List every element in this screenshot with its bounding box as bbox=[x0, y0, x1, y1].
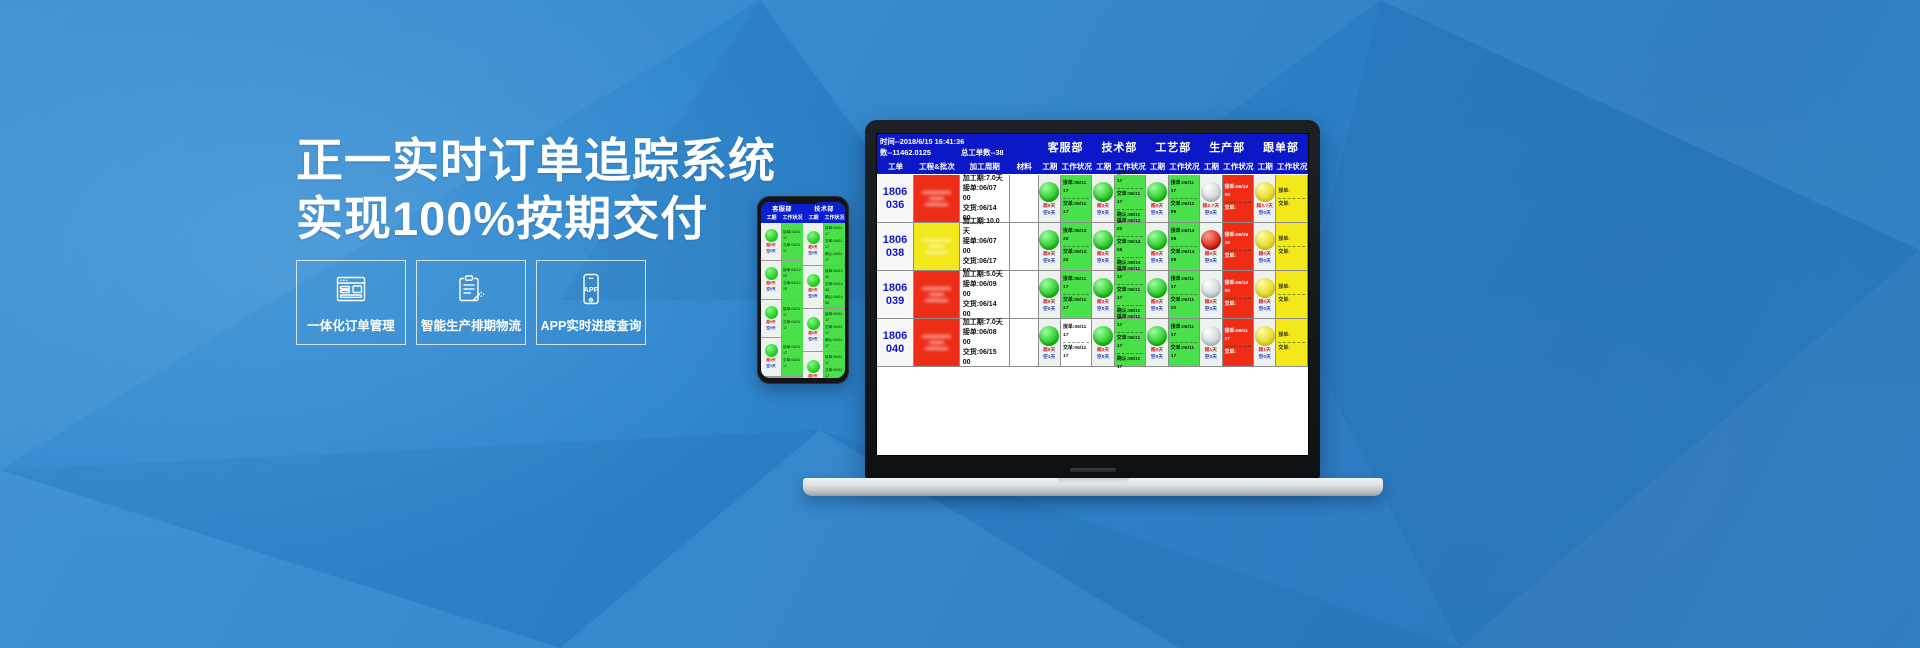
cell-work-order: 1806038 bbox=[877, 223, 914, 270]
phone-status-line: 接单:06/11 17 bbox=[783, 344, 802, 356]
phone-cell-duration: 超0天空0天 bbox=[761, 300, 782, 338]
phone-column-customer-service: 超0天空0天接单:06/11 17交单:06/11 17超0天空0天接单:06/… bbox=[761, 223, 803, 377]
status-line: 接单:06/11 17 bbox=[1171, 180, 1197, 196]
status-dot-green[interactable] bbox=[1093, 182, 1113, 202]
phone-idle-tag: 空1天 bbox=[766, 364, 775, 369]
overdue-tag: 超0天 bbox=[1097, 299, 1109, 305]
cycle-line: 接单:06/09 00 bbox=[963, 280, 1006, 300]
project-batch-redacted bbox=[914, 175, 959, 222]
status-line: 交单:06/12 09 bbox=[1171, 201, 1197, 217]
cycle-line: 加工期:10.0天 bbox=[963, 217, 1006, 237]
overdue-tag: 超0天 bbox=[1043, 299, 1055, 305]
status-dot-green[interactable] bbox=[1093, 230, 1113, 250]
cell-cycle: 加工期:10.0天接单:06/07 00交货:06/17 00 bbox=[960, 223, 1010, 270]
overdue-tag: 超0天 bbox=[1259, 299, 1271, 305]
phone-cell-duration: 超0天空4天 bbox=[803, 352, 824, 379]
status-line: 交单:06/11 17 bbox=[1117, 191, 1143, 207]
idle-tag: 空0天 bbox=[1259, 354, 1271, 360]
cell-cycle: 加工期:7.0天接单:06/08 00交货:06/15 00 bbox=[960, 319, 1010, 366]
dashboard-time: 时间--2018/6/15 16:41:36 bbox=[880, 136, 1036, 147]
mobile-app-icon: APP bbox=[574, 272, 608, 306]
cycle-line: 加工期:7.0天 bbox=[963, 174, 1006, 184]
cell-status-2: 接单:06/11 17交单:06/11 20 bbox=[1169, 271, 1200, 318]
department-header-3: 生产部 bbox=[1200, 134, 1254, 160]
status-line: 交单: bbox=[1225, 253, 1251, 261]
phone-status-line: 交单:06/11 17 bbox=[783, 242, 802, 254]
phone-col-status-1: 工作状况 bbox=[782, 214, 803, 223]
phone-cell-duration: 超0天空0天 bbox=[761, 223, 782, 261]
table-row[interactable]: 1806036加工期:7.0天接单:06/07 00交货:06/14 00超0天… bbox=[877, 175, 1308, 223]
status-divider bbox=[1171, 246, 1197, 247]
col-header-work-order: 工单 bbox=[877, 160, 914, 174]
dashboard-topbar: 时间--2018/6/15 16:41:36 数--11462.0125 总工单… bbox=[877, 134, 1308, 160]
overdue-tag: 超0天 bbox=[1151, 347, 1163, 353]
cycle-line: 接单:06/08 00 bbox=[963, 328, 1006, 348]
phone-idle-tag: 空0天 bbox=[808, 251, 817, 256]
cell-cycle: 加工期:5.0天接单:06/09 00交货:06/14 00 bbox=[960, 271, 1010, 318]
phone-status-dot-green[interactable] bbox=[807, 274, 820, 287]
status-divider bbox=[1063, 342, 1089, 343]
overdue-tag: 超0天 bbox=[1097, 203, 1109, 209]
status-line: 交单: bbox=[1278, 345, 1304, 353]
status-dot-green[interactable] bbox=[1039, 230, 1059, 250]
status-line: 交单:06/14 08 bbox=[1117, 239, 1143, 255]
idle-tag: 空0天 bbox=[1259, 258, 1271, 264]
cell-work-order: 1806036 bbox=[877, 175, 914, 222]
idle-tag: 空0天 bbox=[1097, 306, 1109, 312]
cell-duration-0: 超0天空0天 bbox=[1039, 223, 1061, 270]
col-header-status-4: 工作状况 bbox=[1276, 160, 1307, 174]
phone-row[interactable]: 超0天空0天接单:06/11 17交单:06/11 17 bbox=[761, 223, 803, 262]
overdue-tag: 超0天 bbox=[1097, 251, 1109, 257]
status-line: 交单: bbox=[1225, 205, 1251, 213]
cycle-line: 加工期:5.0天 bbox=[963, 270, 1006, 280]
status-line: 交单:06/14 08 bbox=[1171, 249, 1197, 265]
status-dot-green[interactable] bbox=[1039, 326, 1059, 346]
overdue-tag: 超0天 bbox=[1097, 347, 1109, 353]
cell-duration-3: 超2.7天空0天 bbox=[1200, 175, 1222, 222]
phone-overdue-tag: 超0天 bbox=[766, 243, 775, 248]
col-header-duration-2: 工期 bbox=[1146, 160, 1168, 174]
feature-card-order-management[interactable]: 一体化订单管理 bbox=[296, 260, 406, 345]
phone-overdue-tag: 超0天 bbox=[808, 331, 817, 336]
overdue-tag: 超0天 bbox=[1259, 251, 1271, 257]
overdue-tag: 超0天 bbox=[1205, 251, 1217, 257]
status-line: 接单:06/12 09 bbox=[1225, 280, 1251, 296]
idle-tag: 空0天 bbox=[1151, 354, 1163, 360]
idle-tag: 空0天 bbox=[1259, 306, 1271, 312]
col-header-material: 材料 bbox=[1010, 160, 1039, 174]
status-line: 确认:06/11 17 bbox=[1117, 356, 1143, 372]
work-order-top: 1806 bbox=[883, 282, 907, 295]
overdue-tag: 超1天 bbox=[1205, 347, 1217, 353]
laptop-lid: 时间--2018/6/15 16:41:36 数--11462.0125 总工单… bbox=[865, 120, 1320, 480]
phone-status-dot-green[interactable] bbox=[765, 267, 778, 280]
dashboard-rows: 1806036加工期:7.0天接单:06/07 00交货:06/14 00超0天… bbox=[877, 175, 1308, 367]
cell-duration-3: 超0天空0天 bbox=[1200, 223, 1222, 270]
department-header-2: 工艺部 bbox=[1146, 134, 1200, 160]
cell-status-4: 接单:交单: bbox=[1276, 319, 1307, 366]
cell-duration-4: 超3.7天空0天 bbox=[1254, 175, 1276, 222]
table-row[interactable]: 1806038加工期:10.0天接单:06/07 00交货:06/17 00超0… bbox=[877, 223, 1308, 271]
phone-idle-tag: 空0天 bbox=[766, 326, 775, 331]
cell-duration-1: 超0天空0天 bbox=[1092, 271, 1114, 318]
status-line: 接单:06/11 17 bbox=[1171, 276, 1197, 292]
laptop-base bbox=[803, 478, 1383, 496]
phone-status-line: 交单:06/11 17 bbox=[825, 238, 844, 250]
cycle-line: 交货:06/15 00 bbox=[963, 348, 1006, 368]
status-line: 接单:06/12 09 bbox=[1225, 184, 1251, 200]
cell-duration-2: 超0天空0天 bbox=[1146, 319, 1168, 366]
phone-screen[interactable]: 客服部 技术部 工期 工作状况 工期 工作状况 超0天空0天接单:06/11 1… bbox=[761, 202, 845, 378]
cell-duration-0: 超0天空0天 bbox=[1039, 175, 1061, 222]
phone-row[interactable]: 超0天空4天接单:06/11 17交单:06/11 17确认:06/11 17 bbox=[803, 352, 845, 379]
idle-tag: 空0天 bbox=[1205, 258, 1217, 264]
status-dot-grey[interactable] bbox=[1201, 182, 1221, 202]
idle-tag: 空0天 bbox=[1259, 210, 1271, 216]
cell-duration-1: 超0天空0天 bbox=[1092, 319, 1114, 366]
phone-status-line: 接单:06/12 20 bbox=[825, 268, 844, 280]
phone-status-dot-green[interactable] bbox=[807, 360, 820, 373]
cycle-line: 接单:06/07 00 bbox=[963, 237, 1006, 257]
idle-tag: 空0天 bbox=[1151, 258, 1163, 264]
status-line: 交单:06/11 17 bbox=[1117, 335, 1143, 351]
status-dot-grey[interactable] bbox=[1201, 326, 1221, 346]
status-divider bbox=[1117, 188, 1143, 189]
phone-col-duration-2: 工期 bbox=[803, 214, 824, 223]
phone-cell-duration: 超0天空0天 bbox=[803, 223, 824, 265]
phone-cell-status: 接单:06/12 20交单:06/12 20 bbox=[782, 261, 803, 299]
feature-card-production-scheduling[interactable]: 智能生产排期物流 bbox=[416, 260, 526, 345]
status-line: 接单:06/11 17 bbox=[1063, 180, 1089, 196]
overdue-tag: 超0天 bbox=[1151, 299, 1163, 305]
cell-project-batch bbox=[914, 319, 960, 366]
laptop-mockup: 时间--2018/6/15 16:41:36 数--11462.0125 总工单… bbox=[865, 120, 1335, 470]
status-dot-green[interactable] bbox=[1147, 326, 1167, 346]
status-line: 接单: bbox=[1278, 236, 1304, 244]
phone-idle-tag: 空0天 bbox=[766, 287, 775, 292]
table-row[interactable]: 1806040加工期:7.0天接单:06/08 00交货:06/15 00超0天… bbox=[877, 319, 1308, 367]
phone-overdue-tag: 超0天 bbox=[808, 374, 817, 378]
headline-line-1: 正一实时订单追踪系统 bbox=[296, 132, 716, 190]
cell-duration-4: 超0天空0天 bbox=[1254, 271, 1276, 318]
cell-material bbox=[1010, 271, 1039, 318]
app-icon-text: APP bbox=[583, 285, 598, 294]
cell-duration-2: 超0天空0天 bbox=[1146, 175, 1168, 222]
col-header-status-2: 工作状况 bbox=[1169, 160, 1200, 174]
cell-project-batch bbox=[914, 271, 960, 318]
cell-project-batch bbox=[914, 223, 960, 270]
status-line: 接单: bbox=[1278, 332, 1304, 340]
clipboard-schedule-icon bbox=[454, 272, 488, 306]
status-divider bbox=[1063, 198, 1089, 199]
laptop-screen[interactable]: 时间--2018/6/15 16:41:36 数--11462.0125 总工单… bbox=[876, 133, 1309, 456]
cell-status-4: 接单:交单: bbox=[1276, 175, 1307, 222]
col-header-status-0: 工作状况 bbox=[1061, 160, 1092, 174]
status-line: 交单:06/11 20 bbox=[1171, 297, 1197, 313]
phone-status-line: 接单:06/11 17 bbox=[783, 229, 802, 241]
status-line: 接单: bbox=[1278, 284, 1304, 292]
work-order-bottom: 038 bbox=[886, 247, 904, 260]
col-header-project-batch: 工程&批次 bbox=[914, 160, 960, 174]
status-line: 交单:06/11 17 bbox=[1063, 297, 1089, 313]
work-order-bottom: 039 bbox=[886, 295, 904, 308]
phone-status-dot-green[interactable] bbox=[765, 229, 778, 242]
status-dot-green[interactable] bbox=[1147, 182, 1167, 202]
status-divider bbox=[1117, 305, 1143, 306]
status-dot-green[interactable] bbox=[1093, 326, 1113, 346]
status-dot-yellow[interactable] bbox=[1255, 230, 1275, 250]
idle-tag: 空0天 bbox=[1151, 210, 1163, 216]
col-header-duration-4: 工期 bbox=[1254, 160, 1276, 174]
phone-idle-tag: 空0天 bbox=[808, 337, 817, 342]
feature-label: APP实时进度查询 bbox=[541, 315, 642, 334]
cell-duration-1: 超0天空0天 bbox=[1092, 223, 1114, 270]
phone-status-line: 接单:06/12 20 bbox=[783, 267, 802, 279]
idle-tag: 空0天 bbox=[1097, 354, 1109, 360]
status-divider bbox=[1063, 246, 1089, 247]
dashboard-column-header: 工单工程&批次加工周期材料工期工作状况工期工作状况工期工作状况工期工作状况工期工… bbox=[877, 160, 1308, 175]
status-line: 交单:06/12 20 bbox=[1063, 249, 1089, 265]
idle-tag: 空0天 bbox=[1205, 306, 1217, 312]
cell-status-3: 接单:06/11 17交单: bbox=[1223, 319, 1254, 366]
idle-tag: 空0天 bbox=[1205, 354, 1217, 360]
status-dot-green[interactable] bbox=[1147, 230, 1167, 250]
feature-label: 智能生产排期物流 bbox=[421, 315, 521, 334]
phone-status-line: 交单:06/11 17 bbox=[783, 357, 802, 369]
status-line: 接单:06/12 20 bbox=[1063, 228, 1089, 244]
overdue-tag: 超1天 bbox=[1259, 347, 1271, 353]
cell-duration-4: 超1天空0天 bbox=[1254, 319, 1276, 366]
status-divider bbox=[1225, 346, 1251, 347]
phone-status-dot-green[interactable] bbox=[765, 344, 778, 357]
status-divider bbox=[1225, 202, 1251, 203]
department-header-0: 客服部 bbox=[1039, 134, 1093, 160]
order-tracking-dashboard: 时间--2018/6/15 16:41:36 数--11462.0125 总工单… bbox=[877, 134, 1308, 455]
dashboard-department-header: 客服部技术部工艺部生产部跟单部 bbox=[1039, 134, 1308, 160]
work-order-bottom: 036 bbox=[886, 199, 904, 212]
phone-status-line: 交单:06/14 08 bbox=[825, 281, 844, 293]
feature-label: 一体化订单管理 bbox=[307, 315, 395, 334]
phone-status-line: 交单:06/11 17 bbox=[825, 367, 844, 379]
phone-status-line: 确认:06/14 08 bbox=[825, 294, 844, 306]
status-divider bbox=[1117, 284, 1143, 285]
status-line: 接单:06/11 17 bbox=[1063, 276, 1089, 292]
status-dot-yellow[interactable] bbox=[1255, 278, 1275, 298]
status-dot-green[interactable] bbox=[1147, 278, 1167, 298]
status-line: 接单:06/11 17 bbox=[1063, 324, 1089, 340]
cell-status-1: 接单:06/11 17交单:06/11 17确认:06/11 17 bbox=[1115, 175, 1146, 222]
department-header-4: 跟单部 bbox=[1254, 134, 1308, 160]
phone-col-duration-1: 工期 bbox=[761, 214, 782, 223]
overdue-tag: 超0天 bbox=[1151, 203, 1163, 209]
cycle-line: 接单:06/07 00 bbox=[963, 184, 1006, 204]
status-dot-yellow[interactable] bbox=[1255, 182, 1275, 202]
status-divider bbox=[1278, 342, 1304, 343]
cell-status-1: 接单:06/11 17交单:06/11 17确认:06/11 17 bbox=[1115, 319, 1146, 366]
phone-status-dot-green[interactable] bbox=[807, 317, 820, 330]
idle-tag: 空0天 bbox=[1097, 258, 1109, 264]
col-header-duration-0: 工期 bbox=[1039, 160, 1061, 174]
cell-duration-2: 超0天空0天 bbox=[1146, 271, 1168, 318]
cell-work-order: 1806039 bbox=[877, 271, 914, 318]
status-divider bbox=[1225, 298, 1251, 299]
phone-cell-status: 接单:06/11 17交单:06/11 17 bbox=[782, 300, 803, 338]
phone-row[interactable]: 超0天空1天接单:06/11 17交单:06/11 17 bbox=[761, 338, 803, 377]
feature-list: 一体化订单管理 智能生产排期物流 APP APP实时进度查询 bbox=[296, 260, 646, 345]
cell-cycle: 加工期:7.0天接单:06/07 00交货:06/14 00 bbox=[960, 175, 1010, 222]
phone-overdue-tag: 超0天 bbox=[766, 320, 775, 325]
status-line: 接单:06/15 16 bbox=[1225, 232, 1251, 248]
phone-status-dot-green[interactable] bbox=[765, 306, 778, 319]
cell-status-2: 接单:06/11 17交单:06/12 09 bbox=[1169, 175, 1200, 222]
table-row[interactable]: 1806039加工期:5.0天接单:06/09 00交货:06/14 00超0天… bbox=[877, 271, 1308, 319]
status-dot-grey[interactable] bbox=[1201, 278, 1221, 298]
overdue-tag: 超0天 bbox=[1205, 299, 1217, 305]
status-divider bbox=[1063, 294, 1089, 295]
status-dot-red[interactable] bbox=[1201, 230, 1221, 250]
phone-status-line: 确认:06/11 17 bbox=[825, 337, 844, 349]
status-divider bbox=[1278, 294, 1304, 295]
dashboard-count: 数--11462.0125 bbox=[880, 147, 961, 158]
phone-row[interactable]: 超0天空0天接单:06/11 17交单:06/11 17确认:06/11 17 bbox=[803, 223, 845, 266]
cell-duration-3: 超1天空0天 bbox=[1200, 319, 1222, 366]
status-line: 交单:06/11 17 bbox=[1171, 345, 1197, 361]
status-divider bbox=[1117, 236, 1143, 237]
smartphone-mockup: 客服部 技术部 工期 工作状况 工期 工作状况 超0天空0天接单:06/11 1… bbox=[757, 196, 849, 384]
status-line: 交单: bbox=[1225, 349, 1251, 357]
cycle-line: 交货:06/14 00 bbox=[963, 300, 1006, 320]
status-dot-green[interactable] bbox=[1093, 278, 1113, 298]
cell-status-4: 接单:交单: bbox=[1276, 271, 1307, 318]
status-line: 交单: bbox=[1278, 297, 1304, 305]
phone-status-line: 接单:06/11 17 bbox=[783, 306, 802, 318]
phone-cell-duration: 超0天空0天 bbox=[803, 309, 824, 351]
dashboard-total-orders: 总工单数--38 bbox=[961, 147, 1004, 158]
phone-row[interactable]: 超0天空0天接单:06/12 20交单:06/14 08确认:06/14 08 bbox=[803, 266, 845, 309]
cell-work-order: 1806040 bbox=[877, 319, 914, 366]
phone-row[interactable]: 超0天空0天接单:06/12 20交单:06/12 20 bbox=[761, 261, 803, 300]
cell-status-1: 接单:06/11 17交单:06/11 17确认:06/11 17 bbox=[1115, 271, 1146, 318]
phone-status-line: 接单:06/11 17 bbox=[825, 354, 844, 366]
work-order-bottom: 040 bbox=[886, 343, 904, 356]
phone-status-line: 确认:06/11 17 bbox=[825, 251, 844, 263]
status-divider bbox=[1278, 198, 1304, 199]
project-batch-redacted bbox=[914, 271, 959, 318]
work-order-top: 1806 bbox=[883, 186, 907, 199]
cell-status-2: 接单:06/11 17交单:06/11 17 bbox=[1169, 319, 1200, 366]
cell-status-0: 接单:06/11 17交单:06/11 17 bbox=[1061, 175, 1092, 222]
phone-overdue-tag: 超0天 bbox=[766, 281, 775, 286]
col-header-status-3: 工作状况 bbox=[1223, 160, 1254, 174]
overdue-tag: 超0天 bbox=[1043, 203, 1055, 209]
overdue-tag: 超0天 bbox=[1043, 347, 1055, 353]
cell-material bbox=[1010, 175, 1039, 222]
status-line: 接单:06/11 17 bbox=[1117, 266, 1143, 282]
status-line: 接单:06/12 20 bbox=[1117, 218, 1143, 234]
status-divider bbox=[1278, 246, 1304, 247]
phone-status-line: 接单:06/11 17 bbox=[825, 311, 844, 323]
phone-cell-status: 接单:06/12 20交单:06/14 08确认:06/14 08 bbox=[824, 266, 845, 308]
idle-tag: 空0天 bbox=[1043, 210, 1055, 216]
status-divider bbox=[1225, 250, 1251, 251]
work-order-top: 1806 bbox=[883, 234, 907, 247]
idle-tag: 空0天 bbox=[1043, 258, 1055, 264]
phone-cell-status: 接单:06/11 17交单:06/11 17确认:06/11 17 bbox=[824, 309, 845, 351]
phone-cell-status: 接单:06/11 17交单:06/11 17确认:06/11 17 bbox=[824, 223, 845, 265]
status-line: 交单:06/11 17 bbox=[1063, 201, 1089, 217]
cell-duration-2: 超0天空0天 bbox=[1146, 223, 1168, 270]
phone-row[interactable]: 超0天空0天接单:06/11 17交单:06/11 17确认:06/11 17 bbox=[803, 309, 845, 352]
cell-status-0: 接单:06/12 20交单:06/12 20 bbox=[1061, 223, 1092, 270]
status-dot-green[interactable] bbox=[1039, 278, 1059, 298]
cell-duration-4: 超0天空0天 bbox=[1254, 223, 1276, 270]
phone-col-status-2: 工作状况 bbox=[824, 214, 845, 223]
phone-cell-duration: 超0天空0天 bbox=[803, 266, 824, 308]
col-header-duration-1: 工期 bbox=[1092, 160, 1114, 174]
idle-tag: 空0天 bbox=[1043, 306, 1055, 312]
phone-status-dot-green[interactable] bbox=[807, 231, 820, 244]
status-line: 交单: bbox=[1225, 301, 1251, 309]
status-divider bbox=[1117, 257, 1143, 258]
overdue-tag: 超2.7天 bbox=[1203, 203, 1220, 209]
work-order-top: 1806 bbox=[883, 330, 907, 343]
idle-tag: 空1天 bbox=[1043, 354, 1055, 360]
status-dot-yellow[interactable] bbox=[1255, 326, 1275, 346]
phone-idle-tag: 空0天 bbox=[766, 249, 775, 254]
cell-duration-1: 超0天空0天 bbox=[1092, 175, 1114, 222]
cell-status-3: 接单:06/12 09交单: bbox=[1223, 175, 1254, 222]
feature-card-app-progress-query[interactable]: APP APP实时进度查询 bbox=[536, 260, 646, 345]
phone-status-line: 接单:06/11 17 bbox=[825, 225, 844, 237]
phone-row[interactable]: 超0天空0天接单:06/11 17交单:06/11 17 bbox=[761, 300, 803, 339]
phone-cell-status: 接单:06/11 17交单:06/11 17 bbox=[782, 338, 803, 376]
overdue-tag: 超3.7天 bbox=[1256, 203, 1273, 209]
phone-status-line: 交单:06/11 17 bbox=[825, 324, 844, 336]
phone-cell-status: 接单:06/11 17交单:06/11 17确认:06/11 17 bbox=[824, 352, 845, 379]
hero-copy: 正一实时订单追踪系统 实现100%按期交付 bbox=[296, 132, 716, 248]
status-line: 接单:06/11 17 bbox=[1171, 324, 1197, 340]
phone-cell-duration: 超0天空1天 bbox=[761, 338, 782, 376]
phone-column-header: 工期 工作状况 工期 工作状况 bbox=[761, 214, 845, 223]
cell-status-4: 接单:交单: bbox=[1276, 223, 1307, 270]
status-divider bbox=[1117, 353, 1143, 354]
cell-status-3: 接单:06/15 16交单: bbox=[1223, 223, 1254, 270]
cell-duration-3: 超0天空0天 bbox=[1200, 271, 1222, 318]
department-header-1: 技术部 bbox=[1093, 134, 1147, 160]
phone-cell-duration: 超0天空0天 bbox=[761, 261, 782, 299]
cell-duration-0: 超0天空0天 bbox=[1039, 271, 1061, 318]
status-line: 接单:06/14 08 bbox=[1171, 228, 1197, 244]
idle-tag: 空0天 bbox=[1151, 306, 1163, 312]
status-line: 交单: bbox=[1278, 249, 1304, 257]
dashboard-meta: 时间--2018/6/15 16:41:36 数--11462.0125 总工单… bbox=[877, 134, 1039, 160]
phone-overdue-tag: 超0天 bbox=[808, 245, 817, 250]
phone-overdue-tag: 超0天 bbox=[766, 358, 775, 363]
phone-status-line: 交单:06/12 20 bbox=[783, 280, 802, 292]
status-line: 接单:06/11 17 bbox=[1225, 328, 1251, 344]
status-dot-green[interactable] bbox=[1039, 182, 1059, 202]
overdue-tag: 超0天 bbox=[1151, 251, 1163, 257]
status-divider bbox=[1117, 209, 1143, 210]
phone-status-line: 交单:06/11 17 bbox=[783, 319, 802, 331]
cell-status-3: 接单:06/12 09交单: bbox=[1223, 271, 1254, 318]
phone-table-body: 超0天空0天接单:06/11 17交单:06/11 17超0天空0天接单:06/… bbox=[761, 223, 845, 377]
status-line: 接单:06/11 17 bbox=[1117, 170, 1143, 186]
cell-material bbox=[1010, 223, 1039, 270]
status-divider bbox=[1117, 332, 1143, 333]
dashboard-layout-icon bbox=[334, 272, 368, 306]
